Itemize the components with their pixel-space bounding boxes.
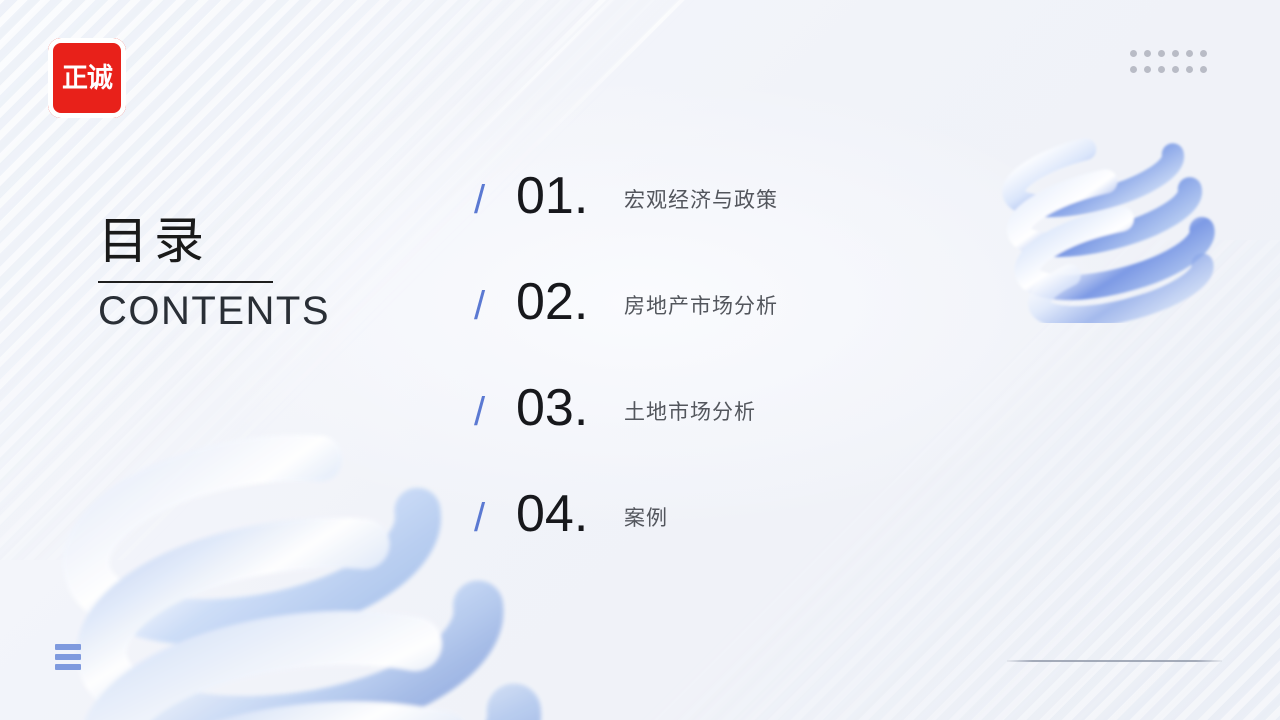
grid-dot: [1186, 66, 1193, 73]
contents-item-04[interactable]: / 04. 案例: [474, 488, 994, 594]
page-title-en: CONTENTS: [98, 289, 428, 334]
page-title: 目录 CONTENTS: [98, 212, 428, 334]
page-title-cn: 目录: [98, 212, 428, 271]
contents-item-number: 03.: [516, 382, 624, 434]
slash-icon: /: [474, 392, 516, 432]
grid-dot: [1130, 66, 1137, 73]
grid-dot: [1200, 66, 1207, 73]
slash-icon: /: [474, 286, 516, 326]
grid-dot: [1172, 66, 1179, 73]
zhengcheng-seal-logo: 正诚: [48, 38, 126, 118]
grid-dot: [1186, 50, 1193, 57]
hamburger-bar: [55, 664, 81, 670]
title-underline: [98, 281, 273, 283]
slash-icon: /: [474, 498, 516, 538]
grid-dot: [1200, 50, 1207, 57]
grid-dot: [1158, 66, 1165, 73]
grid-dot: [1144, 50, 1151, 57]
contents-item-label: 土地市场分析: [624, 402, 756, 423]
grid-dot: [1130, 50, 1137, 57]
contents-item-label: 宏观经济与政策: [624, 190, 778, 211]
grid-dot: [1172, 50, 1179, 57]
footer-divider: [1007, 660, 1222, 662]
contents-list: / 01. 宏观经济与政策 / 02. 房地产市场分析 / 03. 土地市场分析…: [474, 170, 994, 594]
contents-item-01[interactable]: / 01. 宏观经济与政策: [474, 170, 994, 276]
hamburger-bar: [55, 654, 81, 660]
logo-inner: 正诚: [59, 50, 115, 106]
contents-item-number: 01.: [516, 170, 624, 222]
hamburger-bar: [55, 644, 81, 650]
dot-grid-icon: [1126, 45, 1210, 77]
contents-item-label: 房地产市场分析: [624, 296, 778, 317]
contents-item-number: 04.: [516, 488, 624, 540]
presentation-slide: 正诚 目录 CONTENTS / 01. 宏观经济与政策 / 02. 房地产市场…: [0, 0, 1280, 720]
contents-item-label: 案例: [624, 508, 668, 529]
slash-icon: /: [474, 180, 516, 220]
hamburger-menu-icon[interactable]: [55, 644, 81, 670]
grid-dot: [1158, 50, 1165, 57]
contents-item-03[interactable]: / 03. 土地市场分析: [474, 382, 994, 488]
contents-item-number: 02.: [516, 276, 624, 328]
logo-text: 正诚: [62, 65, 112, 92]
contents-item-02[interactable]: / 02. 房地产市场分析: [474, 276, 994, 382]
grid-dot: [1144, 66, 1151, 73]
